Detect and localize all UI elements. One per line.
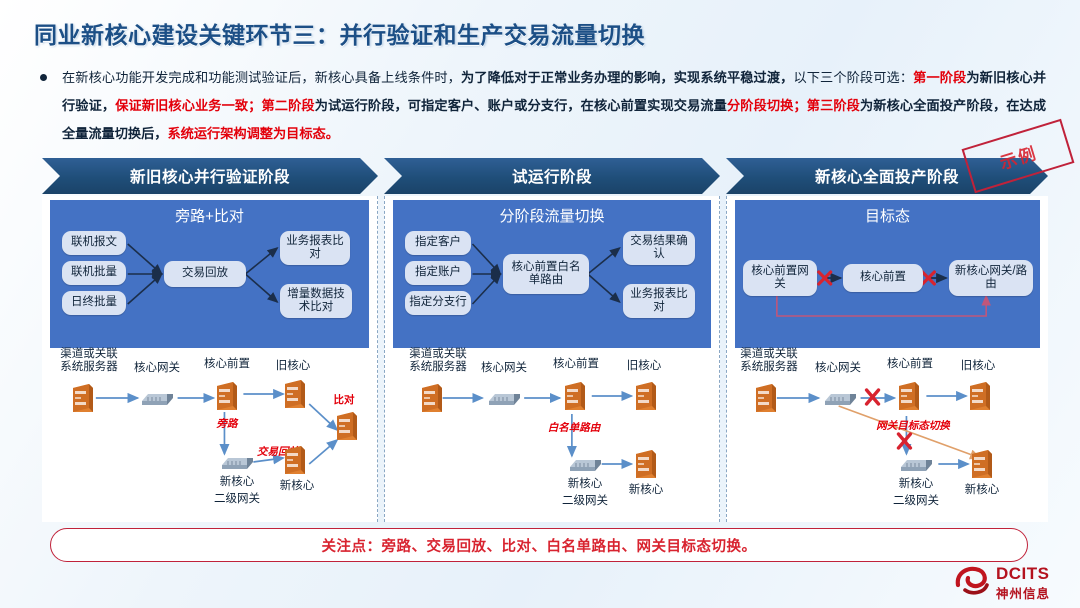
phase-columns: 旁路+比对 联机报文 联机批量 日终批量 交易回放 业务报表 bbox=[42, 196, 1048, 522]
server-icon-source-2 bbox=[419, 382, 445, 414]
panel-2-title: 分阶段流量切换 bbox=[393, 205, 711, 226]
bullet-text-body: 在新核心功能开发完成和功能测试验证后，新核心具备上线条件时，为了降低对于正常业务… bbox=[62, 64, 1046, 148]
bullet-dot-icon bbox=[40, 74, 47, 81]
diagram-1-label-source: 渠道或关联 系统服务器 bbox=[48, 348, 130, 374]
gateway-icon-second-2 bbox=[568, 456, 602, 472]
diagram-2-label-new-core: 新核心 bbox=[613, 484, 679, 497]
logo-text-en: DCITS bbox=[996, 564, 1050, 584]
bullet-seg-2: 为了降低对于正常业务办理的影响，实现系统平稳过渡， bbox=[461, 70, 793, 85]
server-icon-new-core-1 bbox=[282, 444, 308, 476]
panel-2-node-output-2[interactable]: 业务报表比对 bbox=[623, 284, 695, 318]
phase-banner-row: 新旧核心并行验证阶段 试运行阶段 新核心全面投产阶段 bbox=[42, 158, 1048, 194]
panel-1-title: 旁路+比对 bbox=[50, 205, 369, 226]
bullet-paragraph: 在新核心功能开发完成和功能测试验证后，新核心具备上线条件时，为了降低对于正常业务… bbox=[36, 64, 1046, 148]
company-logo: DCITS 神州信息 bbox=[952, 560, 1070, 602]
panel-1-bypass-compare: 旁路+比对 联机报文 联机批量 日终批量 交易回放 业务报表 bbox=[50, 200, 369, 348]
diagram-3-label-front: 核心前置 bbox=[875, 358, 945, 371]
dcits-swirl-icon bbox=[952, 563, 992, 599]
panel-3-title: 目标态 bbox=[735, 205, 1040, 226]
diagram-2-label-old-core: 旧核心 bbox=[611, 360, 677, 373]
phase-banner-2[interactable]: 试运行阶段 bbox=[384, 158, 720, 194]
panel-1-node-output-2[interactable]: 增量数据技术比对 bbox=[280, 284, 352, 318]
server-icon-old-core-2 bbox=[633, 380, 659, 412]
bullet-seg-8: 为试运行阶段，可指定客户、账户或分支行，在核心前置实现交易流量 bbox=[315, 98, 727, 113]
panel-3-node-new-core-gateway[interactable]: 新核心网关/路由 bbox=[949, 260, 1033, 296]
bullet-seg-12: 系统运行架构调整为目标态。 bbox=[168, 126, 339, 141]
diagram-3-label-old-core: 旧核心 bbox=[945, 360, 1011, 373]
server-icon-front-1 bbox=[214, 380, 240, 412]
diagram-2-label-source: 渠道或关联 系统服务器 bbox=[397, 348, 479, 374]
bullet-seg-3: 以下三个阶段可选： bbox=[793, 70, 913, 85]
diagram-1-label-front: 核心前置 bbox=[192, 358, 262, 371]
bullet-seg-10-phase3: 第三阶段 bbox=[807, 98, 860, 113]
gateway-icon-core-1 bbox=[140, 390, 174, 406]
diagram-3-label-new-core: 新核心 bbox=[949, 484, 1015, 497]
page-title: 同业新核心建设关键环节三：并行验证和生产交易流量切换 bbox=[34, 16, 645, 50]
bullet-seg-9: 分阶段切换； bbox=[727, 98, 807, 113]
diagram-2: 渠道或关联 系统服务器 核心网关 核心前置 旧核心 白名单路由 新核心 二级网关 bbox=[385, 346, 719, 522]
panel-2-staged-switch: 分阶段流量切换 指定客户 指定账户 指定分支行 核心前置白名单路由 bbox=[393, 200, 711, 348]
sample-stamp-label: 示例 bbox=[996, 138, 1040, 173]
panel-2-node-input-2[interactable]: 指定账户 bbox=[405, 261, 471, 285]
diagram-3-label-gateway-switch: 网关目标态切换 bbox=[863, 420, 963, 433]
gateway-icon-core-3 bbox=[823, 390, 857, 406]
panel-3-node-front-gateway[interactable]: 核心前置网关 bbox=[743, 260, 817, 296]
panel-1-node-input-3[interactable]: 日终批量 bbox=[62, 291, 126, 315]
bullet-seg-4-phase1: 第一阶段 bbox=[913, 70, 966, 85]
diagram-3-label-gateway: 核心网关 bbox=[803, 362, 873, 375]
gateway-icon-second-3 bbox=[899, 456, 933, 472]
server-icon-compare-1 bbox=[334, 410, 360, 442]
panel-1-node-input-2[interactable]: 联机批量 bbox=[62, 261, 126, 285]
diagram-3-label-second-gw: 新核心 二级网关 bbox=[873, 476, 959, 510]
phase-column-1: 旁路+比对 联机报文 联机批量 日终批量 交易回放 业务报表 bbox=[42, 196, 378, 522]
panel-1-node-replay[interactable]: 交易回放 bbox=[164, 261, 246, 287]
server-icon-new-core-3 bbox=[969, 448, 995, 480]
panel-3-node-front[interactable]: 核心前置 bbox=[843, 264, 923, 292]
panel-1-node-output-1[interactable]: 业务报表比对 bbox=[280, 231, 350, 265]
server-icon-new-core-2 bbox=[633, 448, 659, 480]
diagram-2-label-whitelist: 白名单路由 bbox=[535, 422, 613, 435]
panel-3-target-state: 目标态 bbox=[735, 200, 1040, 348]
diagram-1-label-bypass: 旁路 bbox=[210, 418, 244, 431]
bullet-seg-7-phase2: 第二阶段 bbox=[261, 98, 314, 113]
logo-text-cn: 神州信息 bbox=[996, 583, 1050, 602]
gateway-icon-core-2 bbox=[487, 390, 521, 406]
server-icon-front-3 bbox=[896, 380, 922, 412]
server-icon-old-core-3 bbox=[967, 380, 993, 412]
panel-1-node-input-1[interactable]: 联机报文 bbox=[62, 231, 126, 255]
bullet-seg-6: 保证新旧核心业务一致； bbox=[115, 98, 261, 113]
panel-2-node-input-1[interactable]: 指定客户 bbox=[405, 231, 471, 255]
diagram-3-label-source: 渠道或关联 系统服务器 bbox=[727, 348, 811, 374]
diagram-1-label-new-core: 新核心 bbox=[264, 480, 330, 493]
server-icon-front-2 bbox=[562, 380, 588, 412]
focus-points-text: 关注点：旁路、交易回放、比对、白名单路由、网关目标态切换。 bbox=[322, 535, 757, 556]
diagram-1: 渠道或关联 系统服务器 核心网关 核心前置 旧核心 比对 旁路 bbox=[42, 346, 377, 522]
bullet-seg-1: 在新核心功能开发完成和功能测试验证后，新核心具备上线条件时， bbox=[62, 70, 461, 85]
panel-2-node-whitelist-route[interactable]: 核心前置白名单路由 bbox=[503, 254, 589, 294]
diagram-1-label-compare: 比对 bbox=[324, 394, 364, 407]
diagram-2-label-front: 核心前置 bbox=[541, 358, 611, 371]
panel-2-node-output-1[interactable]: 交易结果确认 bbox=[623, 231, 695, 265]
phase-column-3: 目标态 bbox=[726, 196, 1048, 522]
diagram-1-label-old-core: 旧核心 bbox=[260, 360, 326, 373]
panel-2-node-input-3[interactable]: 指定分支行 bbox=[405, 291, 471, 315]
diagram-2-label-gateway: 核心网关 bbox=[469, 362, 539, 375]
phase-banner-1[interactable]: 新旧核心并行验证阶段 bbox=[42, 158, 378, 194]
diagram-1-label-gateway: 核心网关 bbox=[122, 362, 192, 375]
server-icon-old-core-1 bbox=[282, 378, 308, 410]
server-icon-source-3 bbox=[753, 382, 779, 414]
focus-points-banner: 关注点：旁路、交易回放、比对、白名单路由、网关目标态切换。 bbox=[50, 528, 1028, 562]
server-icon-source-1 bbox=[70, 382, 96, 414]
phase-column-2: 分阶段流量切换 指定客户 指定账户 指定分支行 核心前置白名单路由 bbox=[384, 196, 720, 522]
diagram-3: 渠道或关联 系统服务器 核心网关 核心前置 旧核心 网关目标态切换 新核心 二级… bbox=[727, 346, 1048, 522]
